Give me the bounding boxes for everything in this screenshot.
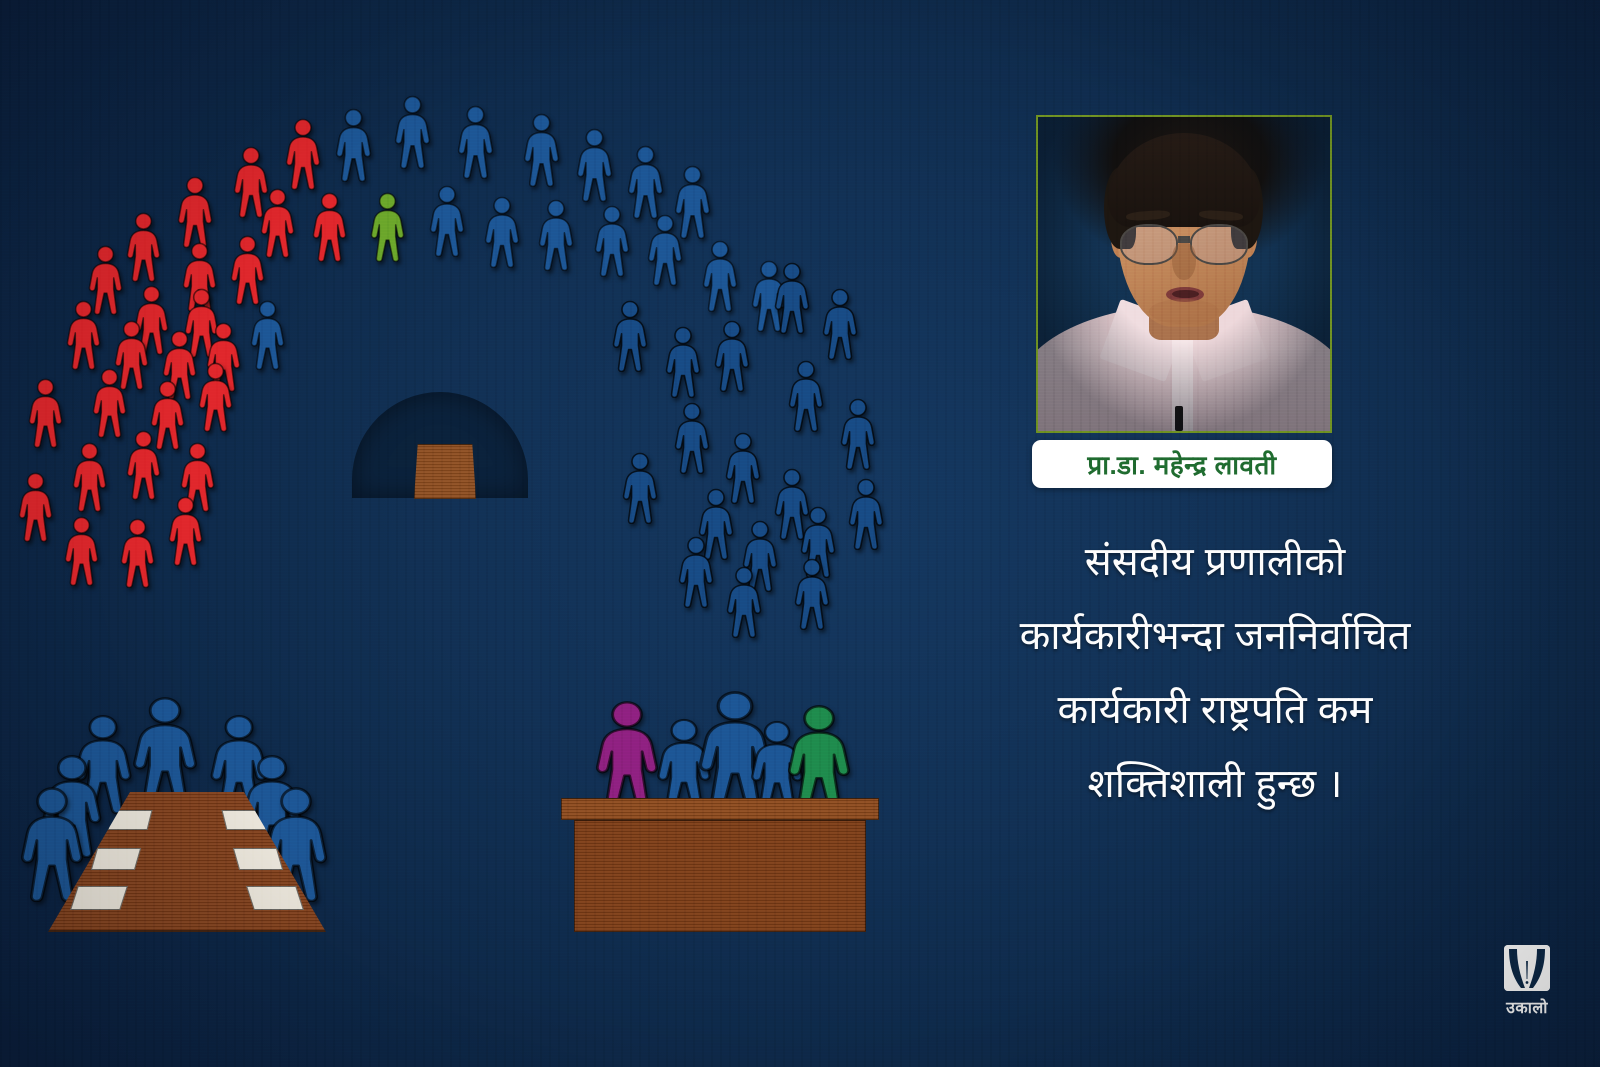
- crowd-person-red: [283, 118, 323, 190]
- crowd-person-blue_dim: [610, 300, 650, 372]
- crowd-person-blue_dim: [820, 288, 860, 360]
- crowd-person-blue: [521, 113, 562, 187]
- crowd-person-blue_dim: [672, 402, 712, 474]
- crowd-person-blue_dim: [676, 536, 716, 608]
- site-logo[interactable]: उकालो: [1492, 945, 1562, 1023]
- crowd-person-blue: [455, 105, 496, 179]
- paper: [91, 848, 141, 870]
- crowd-person-blue: [700, 240, 740, 312]
- paper: [246, 886, 304, 910]
- crowd-person-red: [16, 472, 55, 542]
- table-figure: [128, 696, 202, 806]
- quote-block: संसदीय प्रणालीको कार्यकारीभन्दा जननिर्वा…: [905, 525, 1525, 821]
- poster-canvas: प्रा.डा. महेन्द्र लावती संसदीय प्रणालीको…: [0, 0, 1600, 1067]
- crowd-person-blue: [333, 108, 374, 182]
- speaker-portrait: [1036, 115, 1332, 433]
- crowd-person-blue_dim: [838, 398, 878, 470]
- crowd-person-blue: [392, 95, 433, 169]
- crowd-person-red: [64, 300, 103, 370]
- logo-wordmark: उकालो: [1492, 996, 1562, 1018]
- crowd-person-red: [70, 442, 109, 512]
- quote-line-1: संसदीय प्रणालीको: [905, 525, 1525, 599]
- panel-figure-green: [783, 704, 855, 812]
- crowd-person-blue_dim: [786, 360, 826, 432]
- crowd-person-blue_dim: [846, 478, 886, 550]
- crowd-person-blue_dim: [772, 262, 812, 334]
- crowd-person-red: [196, 362, 235, 432]
- crowd-person-red: [166, 496, 205, 566]
- converging-road-icon: [1504, 945, 1550, 991]
- desk-front: [574, 820, 866, 932]
- desk-top: [561, 798, 879, 820]
- panel-desk-scene: [555, 690, 885, 940]
- crowd-person-red: [118, 518, 157, 588]
- speaker-name-label: प्रा.डा. महेन्द्र लावती: [1032, 440, 1332, 488]
- speaker-name-text: प्रा.डा. महेन्द्र लावती: [1087, 446, 1276, 482]
- crowd-person-blue: [482, 196, 522, 268]
- crowd-person-blue: [645, 214, 685, 286]
- crowd-person-red: [124, 430, 163, 500]
- crowd-person-blue_dim: [620, 452, 660, 524]
- paper: [70, 886, 128, 910]
- crowd-person-blue_dim: [712, 320, 752, 392]
- crowd-person-red: [310, 192, 349, 262]
- crowd-person-red: [26, 378, 65, 448]
- speaker-rostrum: [414, 444, 476, 499]
- crowd-person-blue: [248, 300, 287, 370]
- crowd-person-red: [124, 212, 163, 282]
- crowd-person-red: [175, 176, 215, 248]
- crowd-person-blue_dim: [724, 566, 764, 638]
- crowd-person-blue: [592, 205, 632, 277]
- conference-table-scene: [10, 690, 350, 940]
- quote-line-3: कार्यकारी राष्ट्रपति कम: [905, 673, 1525, 747]
- crowd-person-blue: [536, 199, 576, 271]
- crowd-person-green: [368, 192, 407, 262]
- portrait-vignette: [1038, 117, 1330, 431]
- crowd-person-red: [62, 516, 101, 586]
- paper: [233, 848, 283, 870]
- quote-line-4: शक्तिशाली हुन्छ ।: [905, 747, 1525, 821]
- crowd-person-blue: [574, 128, 615, 202]
- crowd-person-blue: [427, 185, 467, 257]
- portrait-photo: [1038, 117, 1330, 431]
- crowd-person-red: [90, 368, 129, 438]
- quote-line-2: कार्यकारीभन्दा जननिर्वाचित: [905, 599, 1525, 673]
- crowd-person-blue_dim: [792, 558, 832, 630]
- crowd-person-red: [228, 235, 267, 305]
- crowd-person-blue_dim: [663, 326, 703, 398]
